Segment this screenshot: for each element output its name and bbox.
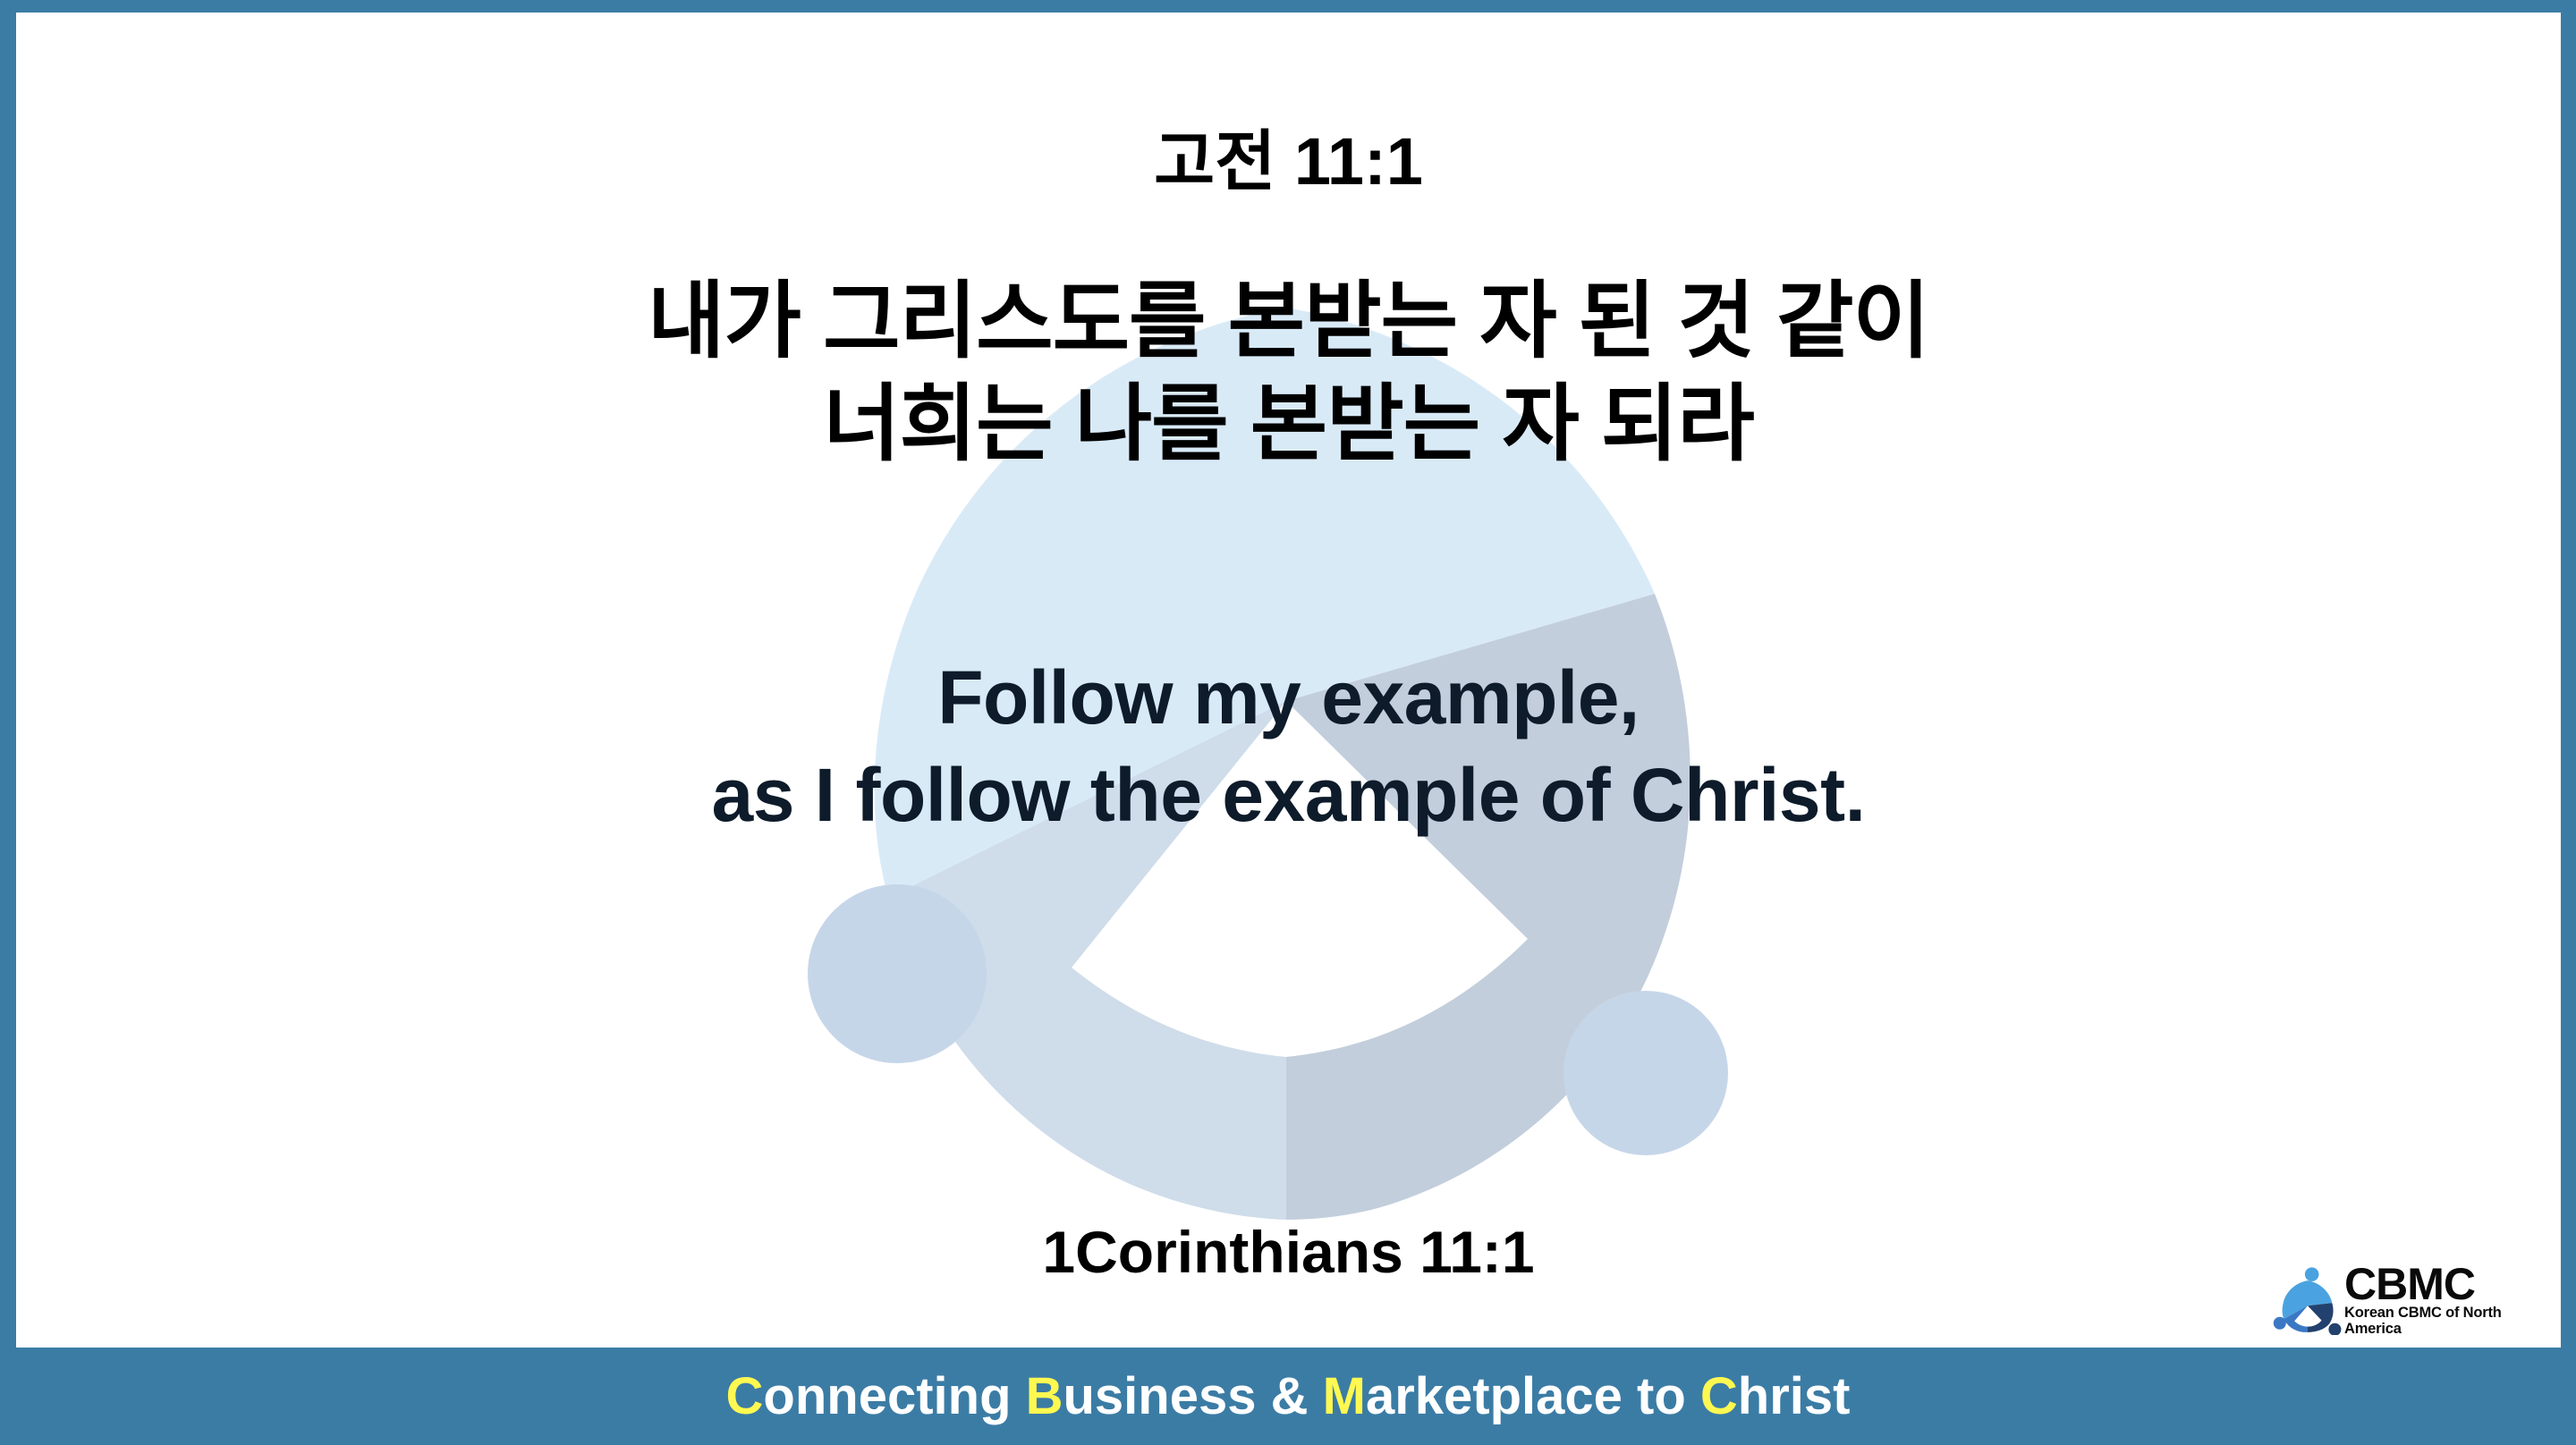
cbmc-logo-tagline: Korean CBMC of North America: [2344, 1306, 2541, 1337]
scripture-text-block: 고전 11:1 내가 그리스도를 본받는 자 된 것 같이 너희는 나를 본받는…: [16, 13, 2561, 1348]
slide-content-area: 고전 11:1 내가 그리스도를 본받는 자 된 것 같이 너희는 나를 본받는…: [16, 13, 2561, 1348]
footer-tagline-segment-0: C: [726, 1367, 764, 1425]
footer-tagline-segment-4: M: [1323, 1367, 1366, 1425]
footer-tagline-segment-7: hrist: [1738, 1367, 1851, 1425]
footer-tagline-segment-5: arketplace to: [1366, 1367, 1700, 1425]
korean-verse-line-1: 내가 그리스도를 본받는 자 된 것 같이: [16, 270, 2561, 373]
footer-bar: Connecting Business & Marketplace to Chr…: [0, 1348, 2576, 1445]
cbmc-wordmark: CBMC: [2344, 1263, 2541, 1305]
footer-tagline: Connecting Business & Marketplace to Chr…: [726, 1366, 1851, 1426]
footer-tagline-segment-3: usiness &: [1063, 1367, 1323, 1425]
english-verse-text: Follow my example, as I follow the examp…: [16, 649, 2561, 844]
english-reference-citation: 1Corinthians 11:1: [16, 1218, 2561, 1286]
slide-frame: 고전 11:1 내가 그리스도를 본받는 자 된 것 같이 너희는 나를 본받는…: [0, 0, 2576, 1445]
english-verse-line-1: Follow my example,: [16, 649, 2561, 747]
korean-verse-line-2: 너희는 나를 본받는 자 되라: [16, 373, 2561, 476]
footer-tagline-segment-1: onnecting: [763, 1367, 1025, 1425]
cbmc-logo: CBMC Korean CBMC of North America: [2273, 1262, 2541, 1339]
korean-reference-title: 고전 11:1: [16, 127, 2561, 197]
cbmc-triangle-logo-icon: [2273, 1265, 2343, 1335]
cbmc-logo-text-group: CBMC Korean CBMC of North America: [2344, 1263, 2541, 1337]
footer-tagline-segment-2: B: [1026, 1367, 1063, 1425]
footer-tagline-segment-6: C: [1700, 1367, 1738, 1425]
english-verse-line-2: as I follow the example of Christ.: [16, 747, 2561, 844]
korean-verse-text: 내가 그리스도를 본받는 자 된 것 같이 너희는 나를 본받는 자 되라: [16, 270, 2561, 475]
